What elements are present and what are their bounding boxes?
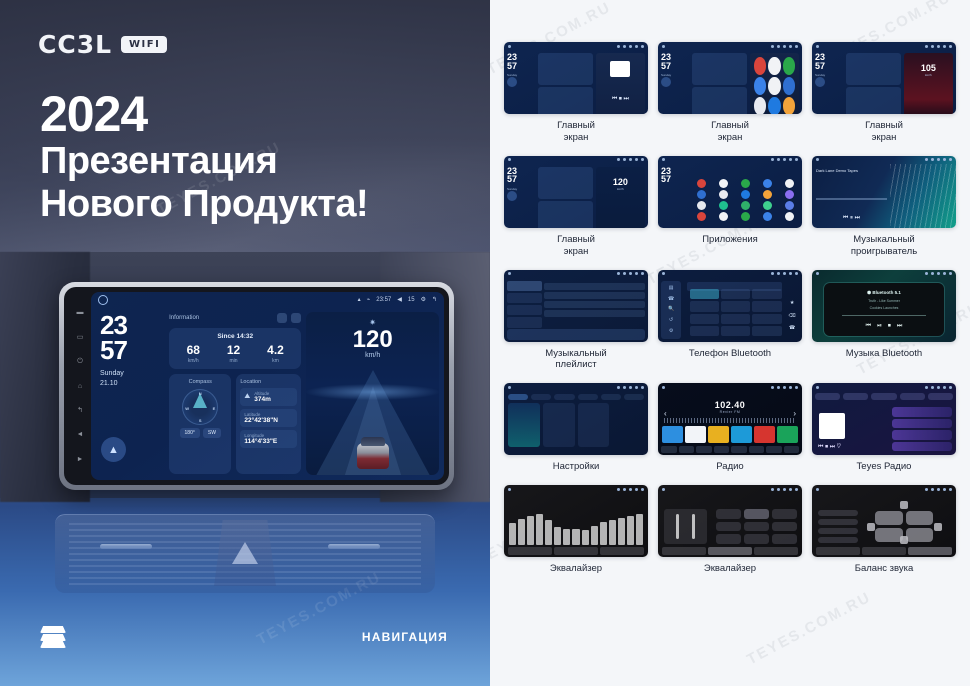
app-icon[interactable]: [719, 212, 728, 221]
latitude-value: 22°42'38"N: [244, 417, 293, 424]
bt-track: Truth - Like Summer: [868, 299, 900, 303]
eq-preset[interactable]: [716, 534, 741, 544]
status-icons: [617, 386, 644, 389]
app-icon[interactable]: [697, 201, 706, 210]
gallery-caption: Музыка Bluetooth: [846, 348, 922, 360]
gallery-caption: Музыкальныйпроигрыватель: [851, 234, 917, 258]
menu-key[interactable]: ▬: [77, 309, 84, 316]
clock-minutes: 57: [100, 338, 165, 363]
gallery-caption: Музыкальныйплейлист: [545, 348, 606, 372]
thumb-speed-value: 120km/h: [596, 177, 645, 191]
thumb-compass-card: [846, 87, 901, 114]
app-icon[interactable]: [763, 190, 772, 199]
thumb-home-screen-media[interactable]: 2357 Sunday ⏮ ⏹ ⏭: [504, 42, 648, 114]
app-icon[interactable]: [763, 201, 772, 210]
thumb-status-bar: [658, 270, 802, 278]
home-icon: [816, 272, 819, 275]
hazard-triangle-icon: [232, 542, 258, 564]
gallery-caption: Эквалайзер: [550, 563, 602, 575]
favorite-icon: ★: [790, 300, 794, 306]
bt-progress[interactable]: [842, 315, 927, 316]
gallery-cell: Настройки: [504, 383, 648, 485]
thumb-bluetooth-music[interactable]: ⬢ Bluetooth 5.1 Truth - Like Summer Cook…: [812, 270, 956, 342]
radio-preset[interactable]: [777, 426, 798, 443]
status-icons: [771, 272, 798, 275]
app-icon[interactable]: [785, 190, 794, 199]
eq-preset[interactable]: [744, 509, 769, 519]
thumb-compass-card: [538, 87, 593, 114]
eq-footer-tabs[interactable]: [662, 547, 798, 555]
station-row[interactable]: [892, 430, 952, 440]
play-icon: ⏯: [877, 323, 882, 330]
radio-preset[interactable]: [731, 426, 752, 443]
player-layout: Dark Lane Demo Tapes ⏮ ⏸ ⏭: [812, 164, 956, 228]
playlist-sidebar[interactable]: [507, 281, 542, 328]
eq-band-sliders[interactable]: [509, 509, 643, 545]
thumb-clock: 2357 Sunday: [507, 167, 535, 228]
radio-frequency: 102.40 Revier FM: [658, 391, 802, 414]
app-icon[interactable]: [785, 201, 794, 210]
hero-headline: 2024 Презентация Нового Продукта!: [40, 88, 368, 225]
gallery-cell: Музыкальныйплейлист: [504, 270, 648, 384]
status-icons: [771, 158, 798, 161]
station-row[interactable]: [892, 407, 952, 417]
eq-band[interactable]: [609, 520, 616, 545]
home-icon: [662, 386, 665, 389]
balance-down-button[interactable]: [900, 536, 908, 544]
playlist-layout: [504, 278, 648, 342]
information-actions[interactable]: [277, 313, 301, 323]
thumb-media-controls[interactable]: ⏮ ⏹ ⏭: [596, 96, 645, 103]
key-7[interactable]: [690, 314, 719, 324]
settings-tab[interactable]: [578, 394, 598, 400]
stop-icon: ⏹: [888, 323, 891, 330]
status-icons: [925, 158, 952, 161]
next-station-icon[interactable]: ›: [793, 409, 796, 418]
key-3[interactable]: [752, 289, 781, 299]
eq-preset-grid[interactable]: [716, 509, 797, 544]
information-header: Information: [169, 313, 301, 323]
stat-speed: 68 km/h: [187, 344, 200, 364]
app-icon[interactable]: [741, 212, 750, 221]
status-icons: [617, 158, 644, 161]
home-icon: [816, 386, 819, 389]
mode-key[interactable]: ▭: [77, 334, 84, 341]
radio-preset[interactable]: [754, 426, 775, 443]
head-unit-screen[interactable]: ▴ ⌁ 23:57 ◀ 15 ⚙ ↰ 23: [91, 292, 444, 480]
altitude-text: Altitude 374m: [254, 391, 271, 403]
app-icon[interactable]: [763, 212, 772, 221]
key-1[interactable]: [690, 289, 719, 299]
gallery-cell: 2357 Приложения: [658, 156, 802, 270]
clock-hours: 23: [100, 313, 165, 338]
thumb-equalizer-presets[interactable]: [658, 485, 802, 557]
home-icon[interactable]: [98, 295, 108, 305]
thumb-radio[interactable]: 102.40 Revier FM ‹ ›: [658, 383, 802, 455]
thumb-home-screen-nav[interactable]: 2357 Sunday 120km/h: [504, 156, 648, 228]
status-icons: [925, 488, 952, 491]
thumb-info-column: [538, 53, 593, 114]
home-icon: [508, 45, 511, 48]
settings-tab[interactable]: [601, 394, 621, 400]
eq-band[interactable]: [536, 514, 543, 545]
track-row[interactable]: [544, 292, 645, 299]
gallery-caption: Приложения: [702, 234, 758, 246]
thumb-equalizer-bands[interactable]: [504, 485, 648, 557]
speed-widget[interactable]: ✷ 120 km/h: [306, 312, 439, 475]
eq-band[interactable]: [554, 527, 561, 545]
clock-widget[interactable]: 23 57 Sunday 21.10 ▲: [91, 307, 165, 480]
head-unit-side-keys[interactable]: ▬ ▭ ⏻ ⌂ ↰ ◄ ►: [69, 292, 91, 480]
status-icons: [771, 45, 798, 48]
thumb-clock: 2357 Sunday: [815, 53, 843, 114]
gallery-caption: Телефон Bluetooth: [689, 348, 771, 360]
eq-preset[interactable]: [744, 522, 769, 532]
eq-band[interactable]: [518, 519, 525, 546]
phone-keypad[interactable]: [690, 289, 782, 336]
station-row[interactable]: [892, 419, 952, 429]
settings-tab[interactable]: [554, 394, 574, 400]
car-window: [361, 437, 385, 446]
app-icon[interactable]: [785, 212, 794, 221]
thumb-app-shortcuts[interactable]: [754, 57, 795, 114]
thumb-status-bar: [812, 485, 956, 493]
thumb-clock: 2357: [661, 167, 689, 228]
thumb-status-bar: [658, 383, 802, 391]
thumb-status-bar: [504, 42, 648, 50]
speed-unit: km/h: [306, 352, 439, 359]
gallery-caption: Радио: [716, 461, 743, 473]
gallery-caption: Teyes Радио: [857, 461, 912, 473]
gallery-cell: Эквалайзер: [504, 485, 648, 587]
thumb-info-column: [538, 167, 593, 228]
eq-footer-tabs[interactable]: [508, 547, 644, 555]
power-key[interactable]: ⏻: [77, 358, 83, 365]
app-icon[interactable]: [697, 212, 706, 221]
home-icon: [508, 158, 511, 161]
navigation-arrow-icon[interactable]: [507, 191, 517, 201]
eq-band[interactable]: [545, 520, 552, 545]
bt-controls[interactable]: ⏮⏯ ⏹⏭: [866, 323, 903, 330]
key-9[interactable]: [752, 314, 781, 324]
location-title: Location: [240, 379, 297, 385]
teyes-controls[interactable]: ⏮ ⏹ ⏭ ♡: [818, 444, 841, 451]
balance-right-button[interactable]: [934, 523, 942, 531]
key-#[interactable]: [752, 326, 781, 336]
eq-preset[interactable]: [772, 509, 797, 519]
screenshot-gallery-panel: TEYES.COM.RU TEYES.COM.RU TEYES.COM.RU T…: [490, 0, 970, 686]
eq-band[interactable]: [591, 526, 598, 545]
home-icon: [508, 272, 511, 275]
radio-preset[interactable]: [708, 426, 729, 443]
prev-station-icon[interactable]: ‹: [664, 409, 667, 418]
eq-preset[interactable]: [744, 534, 769, 544]
gallery-caption: Настройки: [553, 461, 600, 473]
settings-cards[interactable]: [504, 403, 648, 447]
balance-left-button[interactable]: [867, 523, 875, 531]
eq-preset[interactable]: [772, 534, 797, 544]
more-card[interactable]: [578, 403, 610, 447]
sound-balance-layout: [812, 493, 956, 557]
station-row[interactable]: [892, 442, 952, 452]
compass-widget[interactable]: Compass N E S W: [169, 374, 231, 474]
track-row[interactable]: [544, 283, 645, 290]
wifi-card[interactable]: [508, 403, 540, 447]
altitude-row: ⛰ Altitude 374m: [240, 388, 297, 406]
car-body: [357, 443, 389, 469]
navigation-arrow-icon[interactable]: [815, 77, 825, 87]
app-icon[interactable]: [741, 179, 750, 188]
speed-value: 120: [306, 327, 439, 352]
hazard-light-button[interactable]: [214, 520, 276, 586]
empty-card: [612, 403, 644, 447]
thumb-trip-card: [846, 53, 901, 85]
thumb-right-panel: 105km/h: [904, 53, 953, 114]
compass-mark-w: W: [185, 406, 189, 411]
eq-band[interactable]: [627, 516, 634, 545]
bt-artist: Cookies Launches: [870, 306, 899, 310]
bt-card: ⬢ Bluetooth 5.1 Truth - Like Summer Cook…: [824, 283, 945, 336]
thumb-compass-card: [538, 201, 593, 228]
eq-band[interactable]: [636, 514, 643, 545]
teyes-tabs[interactable]: [815, 393, 953, 400]
backspace-icon: ⌫: [789, 313, 796, 319]
thumb-album-art: [610, 61, 630, 77]
app-icon-grid[interactable]: [692, 167, 799, 228]
home-layout: 2357 Sunday ⏮ ⏹ ⏭: [504, 50, 648, 114]
widgets-row: Compass N E S W: [169, 374, 301, 474]
compass-dial: N E S W: [182, 389, 218, 425]
wifi-hotspot-card[interactable]: [543, 403, 575, 447]
phone-actions[interactable]: ★ ⌫ ☎: [784, 294, 800, 338]
headline-line-2: Нового Продукта!: [40, 183, 368, 226]
balance-up-button[interactable]: [900, 501, 908, 509]
information-title: Information: [169, 315, 199, 321]
thumb-progress-bar[interactable]: [816, 198, 887, 200]
eq-band[interactable]: [572, 529, 579, 545]
gear-icon[interactable]: ⚙: [421, 296, 426, 303]
compass-mark-n: N: [199, 391, 202, 396]
home-icon: [816, 488, 819, 491]
radio-preset[interactable]: [685, 426, 706, 443]
eq-band[interactable]: [509, 523, 516, 545]
teyes-album-art: [819, 413, 845, 439]
car-illustration: [353, 435, 393, 469]
balance-preset-list[interactable]: [818, 510, 858, 543]
key-4[interactable]: [690, 301, 719, 311]
radio-preset[interactable]: [662, 426, 683, 443]
trip-since-label: Since 14:32: [173, 333, 297, 340]
navigation-arrow-icon[interactable]: [661, 77, 671, 87]
radio-toolbar[interactable]: [661, 446, 799, 453]
status-bar-right: ▴ ⌁ 23:57 ◀ 15 ⚙ ↰: [358, 296, 437, 303]
compass-direction: SW: [203, 428, 221, 438]
key-8[interactable]: [721, 314, 750, 324]
navigation-arrow-icon[interactable]: ▲: [101, 437, 126, 462]
thumb-applications[interactable]: 2357: [658, 156, 802, 228]
home-key[interactable]: ⌂: [78, 383, 82, 390]
thumb-info-column: [846, 53, 901, 114]
speaker-front-right: [906, 511, 933, 525]
thumb-bluetooth-phone[interactable]: ▤☎🔍↺⚙ ★ ⌫ ☎: [658, 270, 802, 342]
key-6[interactable]: [752, 301, 781, 311]
key-2[interactable]: [721, 289, 750, 299]
playlist-track-list[interactable]: [544, 281, 645, 328]
home-icon: [816, 158, 819, 161]
thumb-clock: 2357 Sunday: [507, 53, 535, 114]
stat-distance: 4.2 km: [267, 344, 284, 364]
headline-line-1: Презентация: [40, 140, 368, 183]
radio-tuning-scale[interactable]: [664, 418, 796, 423]
app-icon[interactable]: [763, 179, 772, 188]
status-icons: [925, 45, 952, 48]
thumb-teyes-radio[interactable]: ⏮ ⏹ ⏭ ♡: [812, 383, 956, 455]
navigation-label: НАВИГАЦИЯ: [362, 630, 448, 644]
thumb-track-title: Dark Lane Demo Tapes: [816, 168, 887, 173]
product-logo: CC3L WIFI: [38, 30, 167, 59]
apps-layout: 2357: [658, 164, 802, 228]
app-icon[interactable]: [785, 179, 794, 188]
gallery-cell: 2357 Sunday 105km/h Главныйэкран: [812, 42, 956, 156]
key-*[interactable]: [690, 326, 719, 336]
gallery-cell: ▤☎🔍↺⚙ ★ ⌫ ☎Телефон Bluetooth: [658, 270, 802, 384]
navigation-arrow-icon[interactable]: [507, 77, 517, 87]
head-unit-bezel: ▬ ▭ ⏻ ⌂ ↰ ◄ ► ▴ ⌁: [64, 287, 449, 485]
thumb-sound-balance[interactable]: [812, 485, 956, 557]
key-5[interactable]: [721, 301, 750, 311]
gallery-cell: Эквалайзер: [658, 485, 802, 587]
thumb-status-bar: [504, 156, 648, 164]
stat-duration: 12 min: [227, 344, 240, 364]
eq-fader-pair[interactable]: [664, 509, 707, 544]
track-row[interactable]: [544, 301, 645, 308]
eq-band[interactable]: [563, 529, 570, 546]
clock-date: 21.10: [100, 379, 165, 388]
track-row[interactable]: [544, 310, 645, 317]
thumb-speed-value: 105km/h: [904, 63, 953, 77]
app-icon[interactable]: [719, 201, 728, 210]
gallery-cell: ⏮ ⏹ ⏭ ♡ Teyes Радио: [812, 383, 956, 485]
speaker-rear-left: [875, 528, 902, 542]
thumb-home-screen-apps[interactable]: 2357 Sunday: [658, 42, 802, 114]
settings-tab[interactable]: [531, 394, 551, 400]
app-icon[interactable]: [741, 190, 750, 199]
thumb-right-panel: ⏮ ⏹ ⏭: [596, 53, 645, 114]
vent-slot-left: [100, 544, 152, 549]
gallery-cell: 102.40 Revier FM ‹ › Радио: [658, 383, 802, 485]
balance-footer-tabs[interactable]: [816, 547, 952, 555]
key-0[interactable]: [721, 326, 750, 336]
equalizer-layout: [504, 493, 648, 557]
hero-panel: TEYES.COM.RU TEYES.COM.RU TEYES.COM.RU C…: [0, 0, 490, 686]
speaker-front-left: [875, 511, 902, 525]
radio-presets[interactable]: [658, 426, 802, 443]
home-icon: [508, 386, 511, 389]
phone-layout: ▤☎🔍↺⚙ ★ ⌫ ☎: [658, 278, 802, 342]
status-icons: [617, 272, 644, 275]
thumb-player-controls[interactable]: ⏮ ⏸ ⏭: [816, 215, 887, 222]
back-arrow-icon[interactable]: ↰: [432, 296, 437, 303]
thumb-status-bar: [504, 270, 648, 278]
headline-year: 2024: [40, 88, 368, 140]
speaker-rear-right: [906, 528, 933, 542]
equalizer-presets-layout: [658, 493, 802, 557]
gallery-cell: Баланс звука: [812, 485, 956, 587]
eq-preset[interactable]: [716, 522, 741, 532]
volume-down-key[interactable]: ◄: [77, 431, 84, 438]
bt-title: ⬢ Bluetooth 5.1: [867, 290, 901, 296]
location-widget[interactable]: Location ⛰ Altitude 374m: [236, 374, 301, 474]
thumb-settings[interactable]: [504, 383, 648, 455]
gallery-caption: Главныйэкран: [557, 234, 595, 258]
eq-preset[interactable]: [772, 522, 797, 532]
teyes-station-list[interactable]: [892, 407, 952, 451]
app-icon[interactable]: [697, 179, 706, 188]
app-icon[interactable]: [719, 179, 728, 188]
settings-tab[interactable]: [624, 394, 644, 400]
gallery-caption: Главныйэкран: [711, 120, 749, 144]
thumb-clock: 2357 Sunday: [661, 53, 689, 114]
eq-band[interactable]: [582, 530, 589, 545]
eq-band[interactable]: [600, 522, 607, 545]
eq-preset[interactable]: [716, 509, 741, 519]
thumb-right-panel: [750, 53, 799, 114]
radio-band: Revier FM: [658, 410, 802, 414]
prev-icon: ⏮: [866, 323, 871, 330]
thumb-music-player[interactable]: Dark Lane Demo Tapes ⏮ ⏸ ⏭: [812, 156, 956, 228]
expand-icon[interactable]: [291, 313, 301, 323]
gallery-caption: Главныйэкран: [557, 120, 595, 144]
thumb-music-playlist[interactable]: [504, 270, 648, 342]
gallery-cell: 2357 Sunday ⏮ ⏹ ⏭ Главныйэкран: [504, 42, 648, 156]
settings-tabs[interactable]: [504, 391, 648, 403]
thumb-trip-card: [538, 167, 593, 199]
gallery-caption: Главныйэкран: [865, 120, 903, 144]
next-icon: ⏭: [897, 323, 902, 330]
trip-info-card[interactable]: Since 14:32 68 km/h 12 min: [169, 328, 301, 369]
gallery-cell: ⬢ Bluetooth 5.1 Truth - Like Summer Cook…: [812, 270, 956, 384]
thumb-status-bar: [658, 485, 802, 493]
settings-tab[interactable]: [508, 394, 528, 400]
app-icon[interactable]: [719, 190, 728, 199]
radio-layout: 102.40 Revier FM ‹ ›: [658, 391, 802, 455]
home-icon: [816, 45, 819, 48]
playlist-now-playing-bar[interactable]: [507, 329, 645, 340]
back-key[interactable]: ↰: [77, 407, 83, 414]
home-layout: 2357 Sunday 120km/h: [504, 164, 648, 228]
thumb-info-column: [692, 53, 747, 114]
eq-band[interactable]: [618, 518, 625, 545]
compass-title: Compass: [189, 379, 212, 385]
app-icon[interactable]: [741, 201, 750, 210]
status-icons: [617, 488, 644, 491]
thumb-trip-card: [538, 53, 593, 85]
wifi-badge: WIFI: [121, 36, 167, 53]
gallery-cell: 2357 Sunday Главныйэкран: [658, 42, 802, 156]
trip-stats: 68 km/h 12 min 4.2: [173, 344, 297, 364]
thumb-home-screen-speed[interactable]: 2357 Sunday 105km/h: [812, 42, 956, 114]
app-icon[interactable]: [697, 190, 706, 199]
home-screen-body: 23 57 Sunday 21.10 ▲ Information: [91, 307, 444, 480]
thumb-visualizer: [890, 164, 956, 228]
phone-nav-rail[interactable]: ▤☎🔍↺⚙: [661, 281, 681, 339]
gallery-grid: 2357 Sunday ⏮ ⏹ ⏭ Главныйэкран 2357: [490, 0, 970, 587]
thumb-status-bar: [812, 156, 956, 164]
clock-weekday: Sunday: [100, 369, 165, 378]
eq-band[interactable]: [527, 516, 534, 545]
volume-up-key[interactable]: ►: [77, 456, 84, 463]
refresh-icon[interactable]: [277, 313, 287, 323]
